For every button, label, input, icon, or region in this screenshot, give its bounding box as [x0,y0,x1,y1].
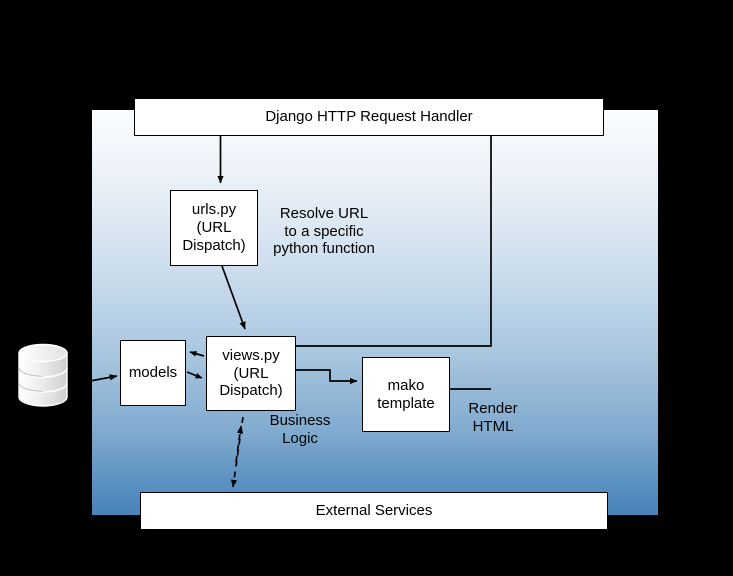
node-label-views-line2: (URL [207,365,295,383]
node-label-mako-line1: mako [363,377,449,395]
node-label-views-line3: Dispatch) [207,382,295,400]
annotation-business-logic: Business Logic [259,412,341,447]
node-label-external-services: External Services [141,502,607,520]
annotation-resolve-url: Resolve URL to a specific python functio… [263,205,385,258]
node-urls-py[interactable]: urls.py (URL Dispatch) [170,190,258,266]
node-views-py[interactable]: views.py (URL Dispatch) [206,336,296,411]
node-django-http-request-handler[interactable]: Django HTTP Request Handler [134,98,604,136]
diagram-canvas: Django HTTP Request Handler urls.py (URL… [0,0,733,576]
node-label-request-handler: Django HTTP Request Handler [135,108,603,126]
node-label-urls-line1: urls.py [171,201,257,219]
node-label-models: models [121,364,185,382]
node-models[interactable]: models [120,340,186,406]
database-cylinder-icon [16,342,70,408]
node-label-urls-line3: Dispatch) [171,237,257,255]
node-label-views-line1: views.py [207,347,295,365]
node-mako-template[interactable]: mako template [362,357,450,432]
gradient-backdrop-panel [92,110,658,515]
node-label-urls-line2: (URL [171,219,257,237]
node-label-mako-line2: template [363,395,449,413]
node-external-services[interactable]: External Services [140,492,608,530]
annotation-render-html: Render HTML [458,400,528,435]
